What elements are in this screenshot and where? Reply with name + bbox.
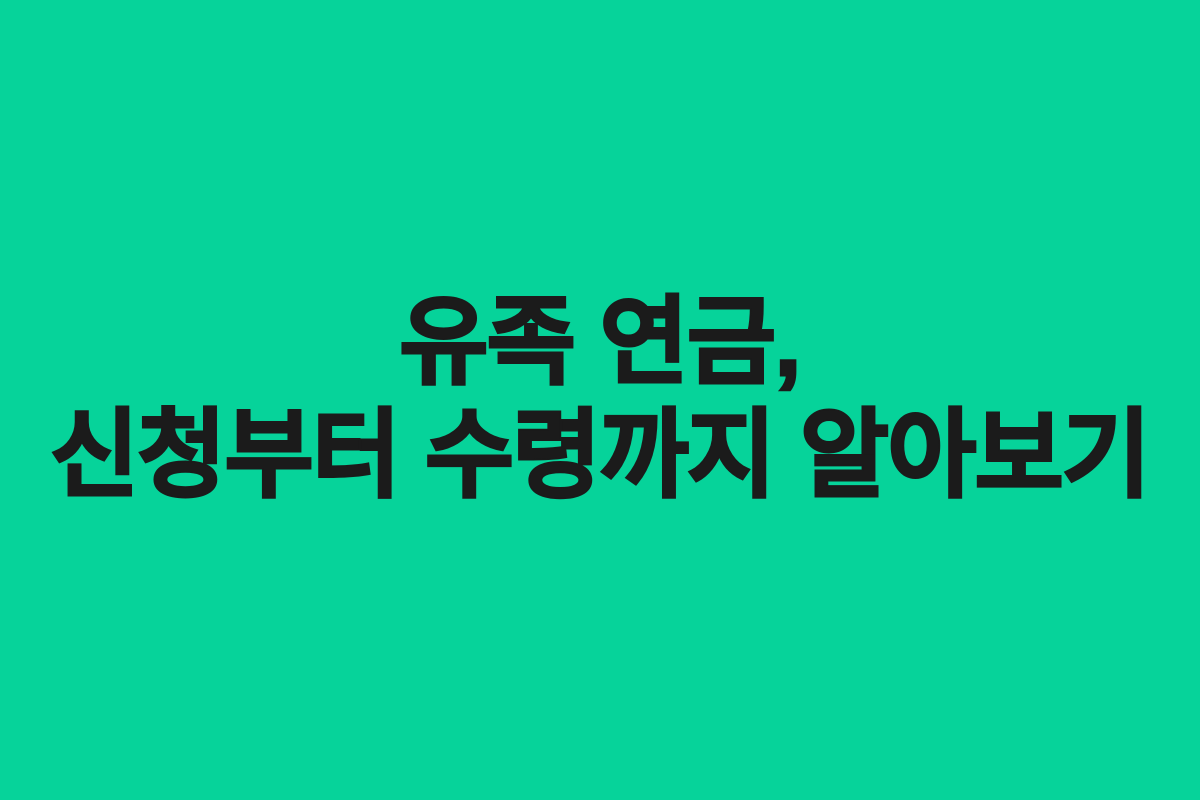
- title-line-2: 신청부터 수령까지 알아보기: [40, 399, 1160, 512]
- page-title: 유족 연금, 신청부터 수령까지 알아보기: [30, 286, 1170, 512]
- title-line-1: 유족 연금,: [40, 286, 1160, 399]
- title-card: 유족 연금, 신청부터 수령까지 알아보기: [0, 0, 1200, 800]
